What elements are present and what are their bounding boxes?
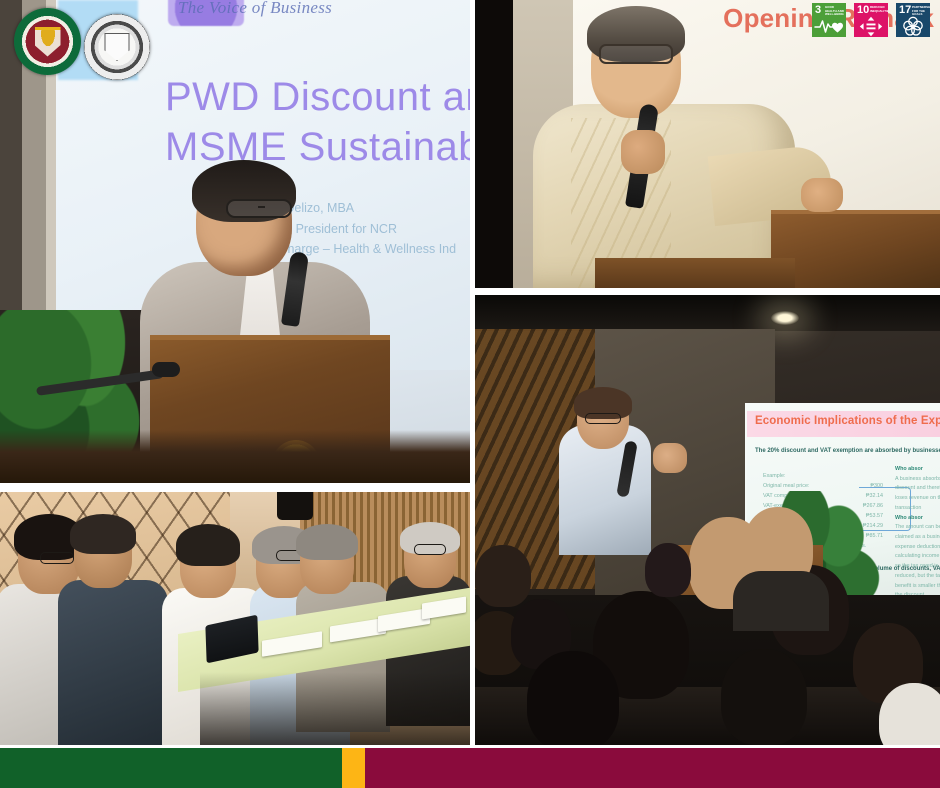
slide-title: PWD Discount and MSME Sustainabi [165, 72, 470, 172]
photo-bottom-left-panel [0, 492, 470, 748]
example-label: Original meal price: [763, 481, 809, 491]
up-seal-icon [14, 8, 81, 75]
heartbeat-icon [812, 15, 846, 37]
wall-speaker [277, 492, 313, 520]
eyeglasses-icon [585, 413, 621, 424]
callout2-body: The amount can be claimed as a business … [895, 523, 940, 595]
audience-head [527, 651, 619, 748]
slide-speaker-role: Vice President for NCR [268, 219, 470, 240]
slide-org-tagline: The Voice of Business [140, 0, 370, 18]
sdg-badge-10-reduced-inequalities: 10 REDUCED INEQUALITIES [854, 3, 888, 37]
photo-bottom-right-open-forum: Economic Implications of the Expanded Th… [475, 295, 940, 748]
ceiling [475, 295, 940, 331]
audience-head [721, 649, 807, 745]
slide-speaker-name: do Delizo, MBA [268, 198, 470, 219]
photo-top-right-opening-remarks: Opening Remark [475, 0, 940, 288]
panelist-hair [296, 524, 358, 560]
speaker-hand-on-podium [801, 178, 843, 212]
eyeglasses-icon [40, 552, 74, 564]
slide-title-line2: MSME Sustainabi [165, 122, 470, 172]
forum-speaker-raised-hand [653, 443, 687, 473]
photo-top-left-pwd-presentation: The Voice of Business PWD Discount and M… [0, 0, 470, 483]
podium [771, 210, 940, 288]
panelist-hair [176, 524, 240, 566]
agency-seal-icon [84, 14, 150, 80]
callout2-heading: Who absor [895, 515, 923, 521]
sdg-badge-3-good-health: 3 GOOD HEALTH AND WELL-BEING [812, 3, 846, 37]
slide-title-line1: PWD Discount and [165, 72, 470, 122]
gutter-horizontal-left [0, 483, 470, 492]
callout1-body: A business absorbs the discount and ther… [895, 475, 940, 514]
slide-title: Economic Implications of the Expanded [755, 415, 940, 427]
gutter-vertical [470, 0, 475, 748]
callout1-heading: Who absor [895, 466, 923, 472]
footer-segment-green [0, 748, 342, 788]
foreground-chairs [0, 430, 470, 483]
slide-example-label: Example: [763, 471, 883, 481]
gutter-horizontal-right [475, 288, 940, 295]
photo-collage: The Voice of Business PWD Discount and M… [0, 0, 940, 788]
audience-area [475, 595, 940, 748]
attendee-torso [58, 580, 168, 748]
table-understructure [200, 672, 470, 748]
equals-arrows-icon [854, 15, 888, 37]
podium-mic-head [152, 362, 180, 377]
attendee-hair [70, 514, 136, 554]
sdg-badge-17-partnerships: 17 PARTNERSHIPS FOR THE GOALS [896, 3, 930, 37]
slide-paragraph: The 20% discount and VAT exemption are a… [755, 447, 940, 457]
interlocking-circles-icon [896, 15, 930, 37]
podium-front [595, 258, 795, 288]
dark-wall-left [475, 0, 513, 288]
attendee-head [475, 545, 531, 607]
attendee-shoulders [733, 571, 829, 631]
audience-shoulder [879, 683, 940, 748]
eyeglasses-icon [414, 544, 446, 555]
slide-callouts: Who absor A business absorbs the discoun… [895, 465, 940, 595]
ceiling-downlight [771, 311, 799, 325]
footer-segment-maroon [365, 748, 940, 788]
eyeglasses-icon [599, 44, 673, 64]
slide-speaker-block: do Delizo, MBA Vice President for NCR n … [268, 198, 470, 260]
footer-segment-yellow [342, 748, 365, 788]
speaker-hand-holding-mic [621, 130, 665, 174]
attendee-head [645, 543, 691, 597]
footer-brand-bar [0, 748, 940, 788]
eyeglasses-icon [226, 199, 292, 218]
sdg-label: REDUCED INEQUALITIES [870, 6, 888, 13]
